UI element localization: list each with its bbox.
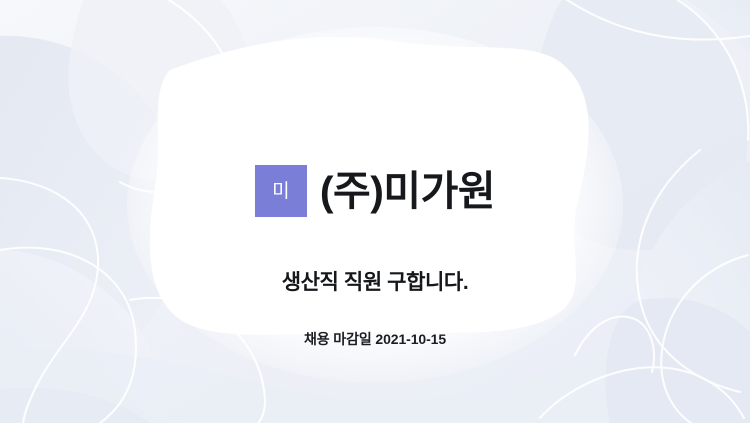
company-name: (주)미가원 xyxy=(320,171,495,212)
company-title-row: 미 (주)미가원 xyxy=(255,143,495,239)
application-deadline: 채용 마감일 2021-10-15 xyxy=(304,332,446,346)
banner-content: 미 (주)미가원 생산직 직원 구합니다. 채용 마감일 2021-10-15 xyxy=(0,0,750,423)
posting-headline: 생산직 직원 구합니다. xyxy=(282,272,469,293)
job-posting-banner: 미 (주)미가원 생산직 직원 구합니다. 채용 마감일 2021-10-15 xyxy=(0,0,750,423)
company-logo-square: 미 xyxy=(255,165,307,217)
logo-glyph: 미 xyxy=(272,182,289,201)
